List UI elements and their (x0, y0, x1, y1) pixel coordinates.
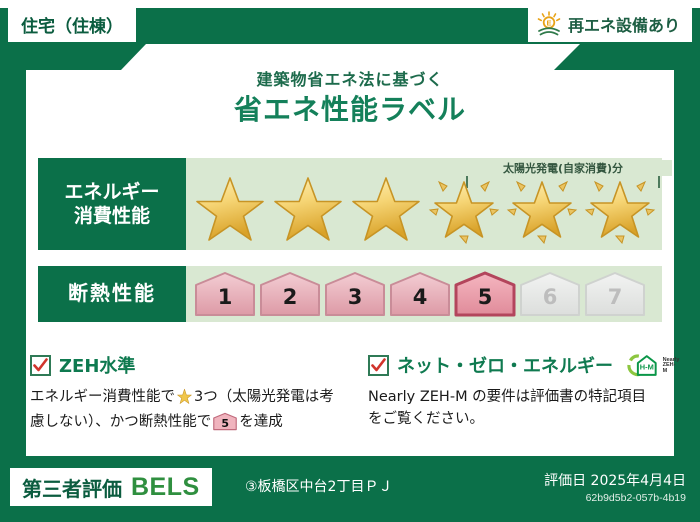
star-1 (192, 164, 268, 244)
star-5-solar (504, 164, 580, 244)
insulation-level-6-number: 6 (519, 271, 581, 317)
evaluation-info: 評価日 2025年4月4日 62b9d5b2-057b-4b19 (544, 470, 686, 504)
energy-performance-label: エネルギー 消費性能 (38, 158, 186, 250)
zeh-body-part1: エネルギー消費性能で (30, 389, 175, 405)
star-rating-group (186, 164, 662, 244)
star-4-solar (426, 164, 502, 244)
svg-text:H-M: H-M (640, 362, 654, 371)
star-6-solar (582, 164, 658, 244)
insulation-levels-area: 1 2 3 4 (186, 266, 662, 322)
evaluation-id: 62b9d5b2-057b-4b19 (544, 492, 686, 504)
net-zero-title: ネット・ゼロ・エネルギー (397, 352, 613, 378)
renewable-equipment-badge: E 再エネ設備あり (528, 6, 692, 42)
insulation-level-1: 1 (194, 271, 256, 317)
zeh-standard-block: ZEH水準 エネルギー消費性能で3つ（太陽光発電は考慮しない）、かつ断熱性能で5… (30, 352, 350, 452)
bels-certification-tag: 第三者評価 BELS (10, 468, 212, 506)
sun-icon: E (536, 11, 562, 37)
zeh-standard-body: エネルギー消費性能で3つ（太陽光発電は考慮しない）、かつ断熱性能で5を達成 (30, 386, 338, 434)
zeh-body-part3: を達成 (239, 414, 283, 430)
net-zero-body: Nearly ZEH-M の要件は評価書の特記項目をご覧ください。 (368, 386, 658, 431)
renewable-badge-label: 再エネ設備あり (568, 12, 680, 36)
insulation-level-7-number: 7 (584, 271, 646, 317)
category-tag-label: 住宅（住棟） (21, 12, 123, 37)
zeh-standard-header: ZEH水準 (30, 352, 338, 378)
zeh-standard-title: ZEH水準 (59, 352, 135, 378)
check-icon (30, 355, 51, 376)
insulation-level-group: 1 2 3 4 (186, 271, 662, 317)
label-title: 省エネ性能ラベル (0, 88, 700, 128)
bels-energy-label: 住宅（住棟） E 再エネ設備あり 建築物省エネ法に基づく 省エネ性能ラベル (0, 0, 700, 522)
insulation-level-6: 6 (519, 271, 581, 317)
inline-house-icon: 5 (213, 412, 237, 431)
insulation-level-3-number: 3 (324, 271, 386, 317)
star-2 (270, 164, 346, 244)
energy-performance-row: エネルギー 消費性能 太陽光発電(自家消費)分 (38, 158, 662, 250)
insulation-level-3: 3 (324, 271, 386, 317)
certification-info-wrap: ZEH水準 エネルギー消費性能で3つ（太陽光発電は考慮しない）、かつ断熱性能で5… (30, 352, 670, 452)
insulation-performance-row: 断熱性能 (38, 266, 662, 322)
property-address: ③板橋区中台2丁目ＰＪ (245, 476, 392, 496)
net-zero-energy-block: ネット・ゼロ・エネルギー H-M Nearly ZEH-M Nearly ZEH… (350, 352, 670, 452)
energy-label-line1: エネルギー (64, 180, 159, 204)
inline-star-icon (176, 387, 193, 411)
svg-text:E: E (546, 19, 551, 28)
insulation-level-5-number: 5 (454, 271, 516, 317)
insulation-performance-label: 断熱性能 (38, 266, 186, 322)
evaluation-date: 評価日 2025年4月4日 (544, 470, 686, 490)
zeh-body-star-count: 3つ (194, 389, 218, 405)
zeh-m-logo-sub2: ZEH-M (663, 363, 680, 375)
footer-bar: 第三者評価 BELS ③板橋区中台2丁目ＰＪ 評価日 2025年4月4日 62b… (0, 462, 700, 522)
insulation-level-2-number: 2 (259, 271, 321, 317)
insulation-label-text: 断熱性能 (68, 281, 156, 307)
insulation-level-5-current: 5 (454, 271, 516, 317)
energy-performance-stars-area: 太陽光発電(自家消費)分 (186, 158, 662, 250)
star-3 (348, 164, 424, 244)
category-tag: 住宅（住棟） (8, 6, 136, 42)
insulation-level-1-number: 1 (194, 271, 256, 317)
zeh-m-logo-icon: H-M Nearly ZEH-M (627, 352, 680, 378)
insulation-level-4-number: 4 (389, 271, 451, 317)
insulation-level-4: 4 (389, 271, 451, 317)
inline-house-number: 5 (213, 412, 237, 431)
bels-en-label: BELS (131, 473, 200, 502)
insulation-level-2: 2 (259, 271, 321, 317)
bels-jp-label: 第三者評価 (22, 473, 122, 502)
energy-label-line2: 消費性能 (74, 204, 150, 228)
net-zero-header: ネット・ゼロ・エネルギー H-M Nearly ZEH-M (368, 352, 658, 378)
label-subtitle: 建築物省エネ法に基づく (0, 66, 700, 90)
insulation-level-7: 7 (584, 271, 646, 317)
check-icon (368, 355, 389, 376)
